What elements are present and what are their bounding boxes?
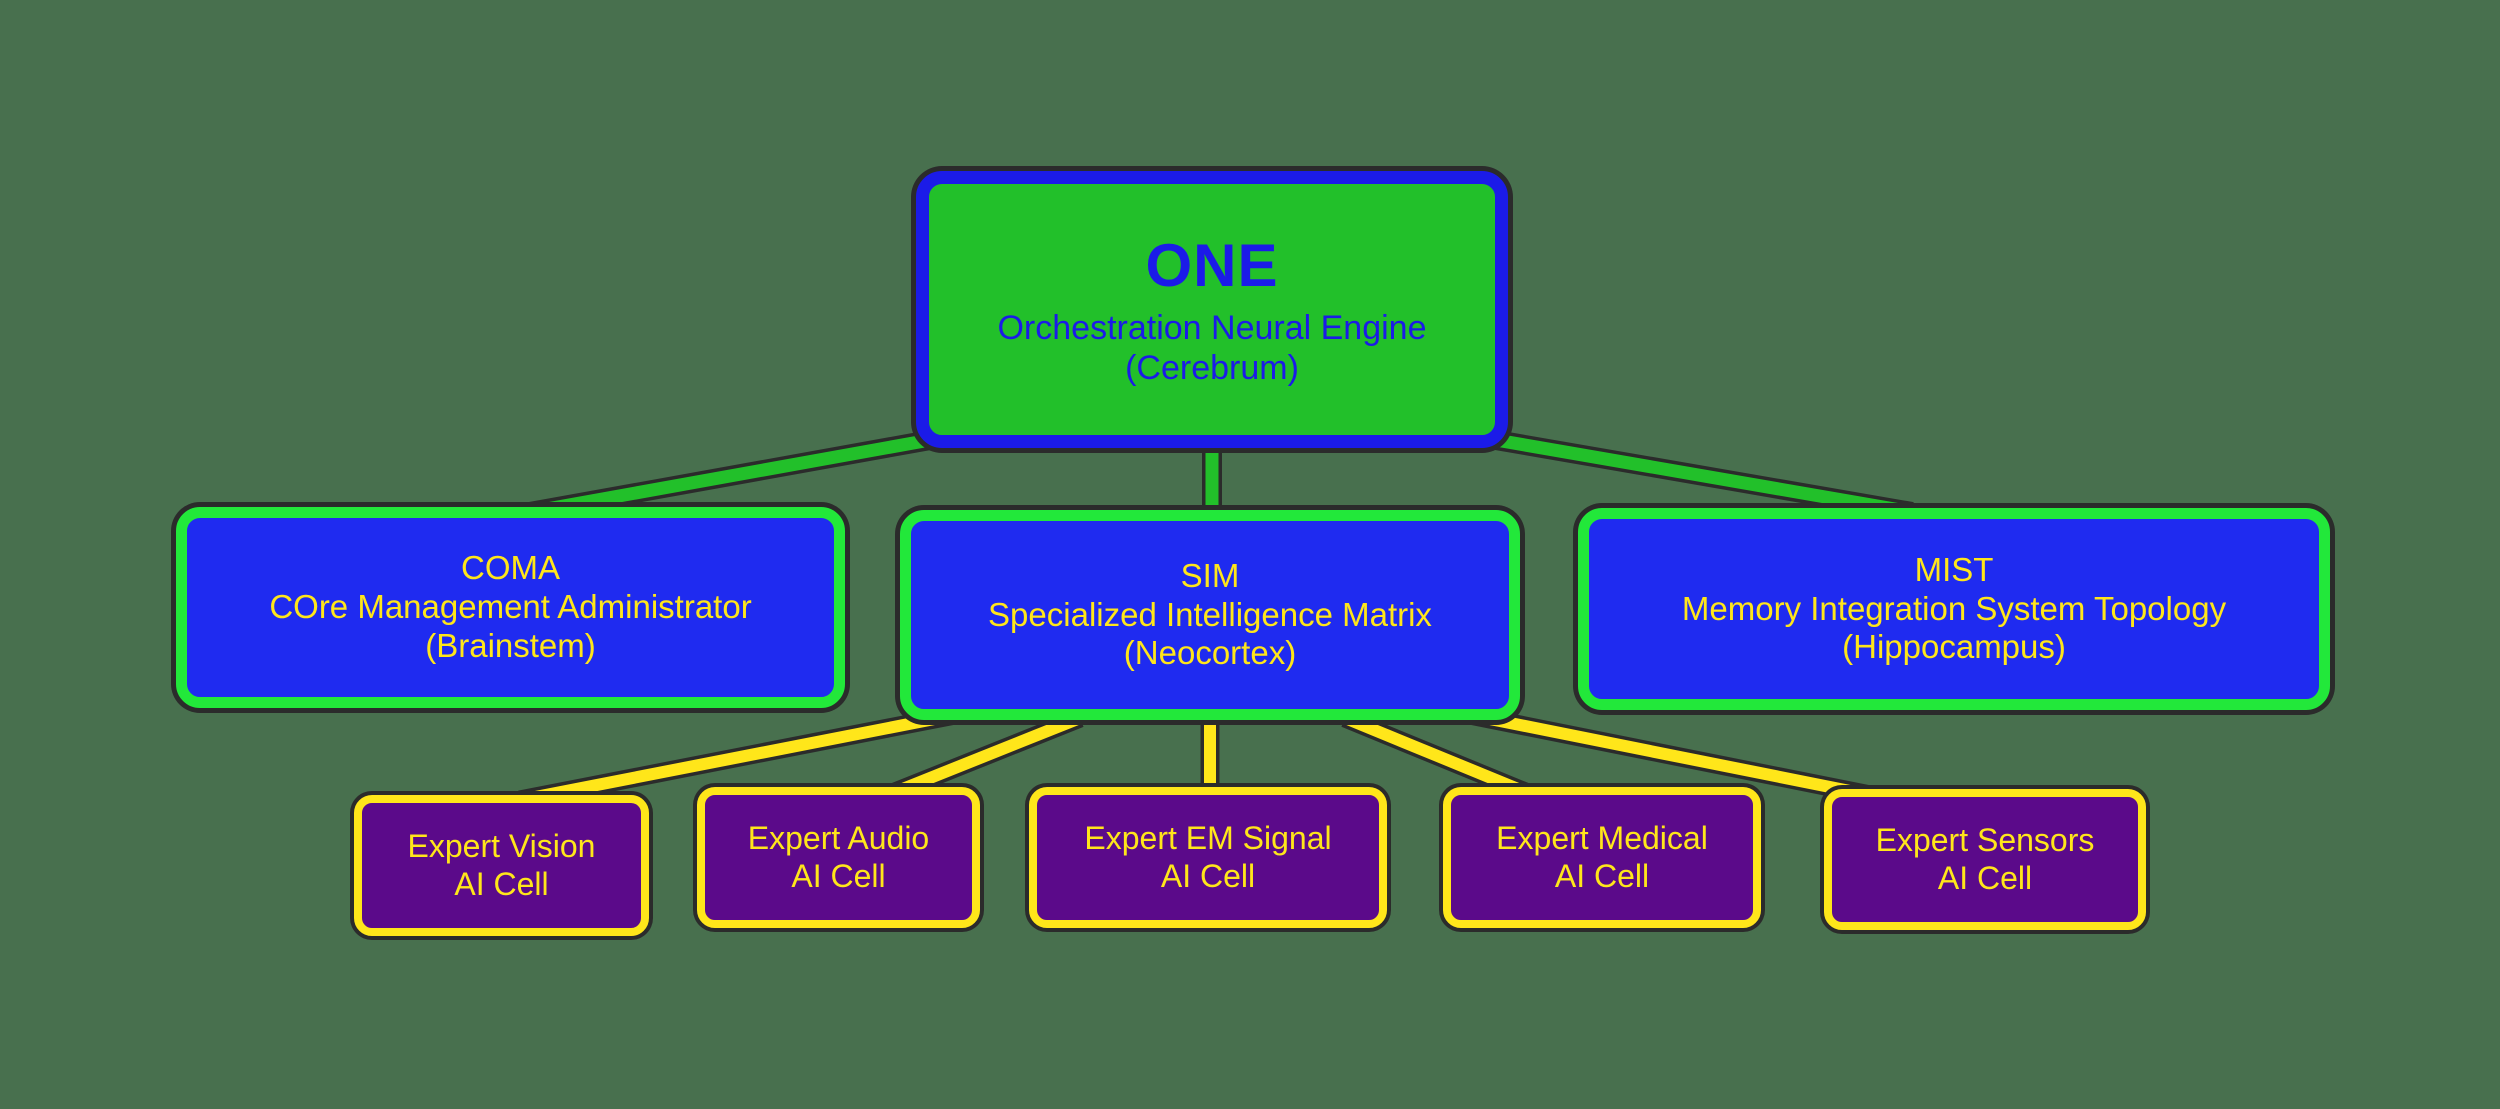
node-expert-audio-title: Expert Audio (748, 820, 929, 858)
node-sim[interactable]: SIM Specialized Intelligence Matrix (Neo… (900, 510, 1520, 720)
node-mist-subtitle: Memory Integration System Topology (1682, 590, 2226, 629)
node-expert-em-signal-subtitle: AI Cell (1161, 858, 1255, 896)
node-one-region: (Cerebrum) (1125, 348, 1299, 388)
edge-one-coma (530, 440, 930, 512)
node-expert-em-signal[interactable]: Expert EM Signal AI Cell (1029, 787, 1387, 928)
node-expert-audio[interactable]: Expert Audio AI Cell (697, 787, 980, 928)
node-expert-medical-title: Expert Medical (1496, 820, 1708, 858)
node-sim-subtitle: Specialized Intelligence Matrix (988, 596, 1432, 635)
node-sim-region: (Neocortex) (1124, 634, 1296, 673)
node-coma-title: COMA (461, 549, 560, 588)
node-coma[interactable]: COMA COre Management Administrator (Brai… (176, 507, 845, 708)
edge-one-mist (1496, 440, 1912, 512)
node-expert-medical-subtitle: AI Cell (1555, 858, 1649, 896)
node-expert-vision[interactable]: Expert Vision AI Cell (354, 795, 649, 936)
node-one-title: ONE (1145, 231, 1278, 302)
node-one-subtitle: Orchestration Neural Engine (997, 308, 1426, 348)
node-mist[interactable]: MIST Memory Integration System Topology … (1578, 508, 2330, 710)
node-sim-title: SIM (1181, 557, 1240, 596)
node-expert-em-signal-title: Expert EM Signal (1084, 820, 1331, 858)
node-mist-title: MIST (1915, 551, 1994, 590)
node-coma-subtitle: COre Management Administrator (269, 588, 751, 627)
node-coma-region: (Brainstem) (425, 627, 596, 666)
node-expert-audio-subtitle: AI Cell (791, 858, 885, 896)
edges-from-root (530, 440, 1912, 515)
node-expert-vision-subtitle: AI Cell (454, 866, 548, 904)
node-mist-region: (Hippocampus) (1842, 628, 2066, 667)
node-expert-sensors[interactable]: Expert Sensors AI Cell (1824, 789, 2146, 930)
edge-sim-expert-medical (1345, 718, 1540, 798)
node-expert-medical[interactable]: Expert Medical AI Cell (1443, 787, 1761, 928)
edge-sim-expert-audio (880, 718, 1080, 798)
node-expert-sensors-subtitle: AI Cell (1938, 860, 2032, 898)
node-one[interactable]: ONE Orchestration Neural Engine (Cerebru… (916, 171, 1508, 448)
node-expert-vision-title: Expert Vision (408, 828, 596, 866)
architecture-diagram: ONE Orchestration Neural Engine (Cerebru… (0, 0, 2500, 1109)
node-expert-sensors-title: Expert Sensors (1876, 822, 2095, 860)
